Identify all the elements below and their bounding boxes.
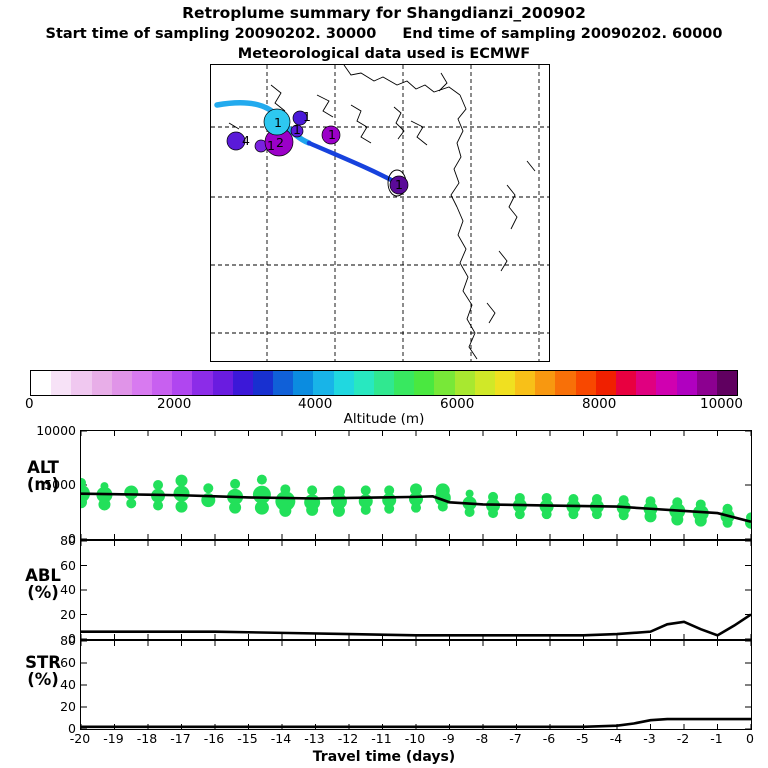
- alt-scatter-point: [203, 483, 213, 493]
- altitude-colorbar: [30, 370, 738, 396]
- x-tick-label: -1: [704, 731, 730, 746]
- x-tick-label: -4: [603, 731, 629, 746]
- alt-scatter-point: [257, 475, 267, 485]
- svg-text:1: 1: [274, 115, 282, 130]
- x-tick-label: -17: [168, 731, 194, 746]
- svg-text:4: 4: [242, 133, 250, 148]
- alt-scatter-point: [465, 507, 475, 517]
- colorbar-swatch: [656, 371, 676, 395]
- x-tick-label: -6: [536, 731, 562, 746]
- svg-text:1: 1: [293, 122, 301, 137]
- colorbar-swatch: [374, 371, 394, 395]
- alt-scatter-point: [176, 501, 188, 513]
- colorbar-swatch: [455, 371, 475, 395]
- x-tick-label: -15: [235, 731, 261, 746]
- svg-text:1: 1: [303, 109, 311, 124]
- y-tick-label: 40: [0, 677, 76, 692]
- colorbar-swatch: [233, 371, 253, 395]
- colorbar-tick-5: 10000: [700, 396, 743, 412]
- colorbar-swatch: [414, 371, 434, 395]
- y-tick-label: 20: [0, 699, 76, 714]
- alt-scatter-point: [333, 505, 345, 517]
- y-tick-label: 80: [0, 633, 76, 648]
- alt-scatter-point: [361, 505, 371, 515]
- colorbar-swatch: [434, 371, 454, 395]
- colorbar-swatch: [354, 371, 374, 395]
- x-tick-label: -16: [201, 731, 227, 746]
- colorbar-swatch: [677, 371, 697, 395]
- colorbar-swatch: [112, 371, 132, 395]
- x-tick-label: -11: [369, 731, 395, 746]
- alt-scatter-point: [98, 498, 110, 510]
- svg-text:1: 1: [267, 138, 275, 153]
- alt-scatter-point: [438, 502, 448, 512]
- alt-scatter-point: [307, 485, 317, 495]
- colorbar-tick-2: 4000: [298, 396, 332, 412]
- met-data-label: Meteorological data used is ECMWF: [0, 46, 768, 62]
- colorbar-swatch: [313, 371, 333, 395]
- colorbar-tick-3: 6000: [440, 396, 474, 412]
- alt-scatter-point: [592, 509, 602, 519]
- alt-scatter-point: [411, 503, 421, 513]
- alt-scatter-point: [306, 504, 318, 516]
- svg-text:1: 1: [395, 177, 403, 192]
- alt-scatter-point: [671, 514, 683, 526]
- x-tick-label: 0: [737, 731, 763, 746]
- mean-line: [81, 615, 751, 636]
- colorbar-swatch: [192, 371, 212, 395]
- colorbar-swatch: [273, 371, 293, 395]
- alt-scatter-point: [230, 479, 240, 489]
- start-time-label: Start time of sampling 20090202. 30000: [46, 26, 377, 42]
- end-time-label: End time of sampling 20090202. 60000: [402, 26, 722, 42]
- colorbar-swatch: [515, 371, 535, 395]
- x-tick-label: -5: [570, 731, 596, 746]
- x-tick-label: -14: [268, 731, 294, 746]
- sampling-time-row: Start time of sampling 20090202. 30000 E…: [0, 26, 768, 42]
- x-tick-label: -8: [469, 731, 495, 746]
- alt-scatter-point: [126, 498, 136, 508]
- alt-scatter-point: [542, 509, 552, 519]
- alt-scatter-point: [255, 501, 269, 515]
- alt-scatter-point: [153, 480, 163, 490]
- colorbar-swatch: [616, 371, 636, 395]
- svg-text:1: 1: [328, 127, 336, 142]
- colorbar-swatch: [717, 371, 737, 395]
- x-tick-label: -7: [503, 731, 529, 746]
- x-tick-label: -18: [134, 731, 160, 746]
- colorbar-swatch: [92, 371, 112, 395]
- alt-scatter-point: [279, 505, 291, 517]
- abl-panel[interactable]: [80, 540, 752, 640]
- colorbar-swatch: [535, 371, 555, 395]
- alt-panel[interactable]: [80, 430, 752, 540]
- x-tick-label: -9: [436, 731, 462, 746]
- alt-scatter-point: [645, 510, 657, 522]
- page-title: Retroplume summary for Shangdianzi_20090…: [0, 4, 768, 22]
- x-tick-label: -3: [637, 731, 663, 746]
- x-tick-label: -12: [335, 731, 361, 746]
- alt-scatter-point: [176, 475, 188, 487]
- colorbar-swatch: [475, 371, 495, 395]
- str-panel[interactable]: [80, 640, 752, 730]
- alt-scatter-point: [124, 486, 138, 500]
- colorbar-swatch: [152, 371, 172, 395]
- svg-text:2: 2: [276, 135, 284, 150]
- colorbar-swatch: [172, 371, 192, 395]
- colorbar-tick-1: 2000: [157, 396, 191, 412]
- alt-scatter-point: [229, 502, 241, 514]
- alt-scatter-point: [568, 509, 578, 519]
- colorbar-swatch: [334, 371, 354, 395]
- alt-scatter-point: [174, 486, 190, 502]
- alt-scatter-point: [384, 504, 394, 514]
- map-graticule: [211, 65, 549, 361]
- x-tick-label: -13: [302, 731, 328, 746]
- cluster-markers: [227, 109, 408, 196]
- colorbar-swatch: [253, 371, 273, 395]
- colorbar-title: Altitude (m): [0, 411, 768, 427]
- colorbar-swatch: [596, 371, 616, 395]
- y-tick-label: 60: [0, 655, 76, 670]
- colorbar-swatch: [555, 371, 575, 395]
- alt-scatter-point: [619, 510, 629, 520]
- alt-scatter-point: [515, 509, 525, 519]
- colorbar-swatch: [495, 371, 515, 395]
- colorbar-swatch: [394, 371, 414, 395]
- colorbar-swatch: [636, 371, 656, 395]
- colorbar-swatch: [697, 371, 717, 395]
- str-y-tick-labels: 020406080: [0, 0, 80, 768]
- alt-scatter-point: [153, 501, 163, 511]
- y-tick-label: 0: [0, 721, 76, 736]
- colorbar-swatch: [293, 371, 313, 395]
- alt-scatter-point: [361, 485, 371, 495]
- alt-scatter-point: [723, 518, 733, 528]
- colorbar-swatch: [576, 371, 596, 395]
- x-axis-label: Travel time (days): [0, 749, 768, 765]
- colorbar-swatch: [132, 371, 152, 395]
- colorbar-swatch: [213, 371, 233, 395]
- colorbar-tick-4: 8000: [582, 396, 616, 412]
- x-tick-label: -10: [402, 731, 428, 746]
- alt-scatter-point: [695, 515, 707, 527]
- alt-scatter-point: [488, 508, 498, 518]
- map-svg: 4 1 2 1 1 1 1 1: [211, 65, 549, 361]
- x-axis-tick-labels: -20-19-18-17-16-15-14-13-12-11-10-9-8-7-…: [80, 731, 752, 747]
- x-tick-label: -19: [101, 731, 127, 746]
- retroplume-map[interactable]: 4 1 2 1 1 1 1 1: [210, 64, 550, 362]
- x-tick-label: -2: [670, 731, 696, 746]
